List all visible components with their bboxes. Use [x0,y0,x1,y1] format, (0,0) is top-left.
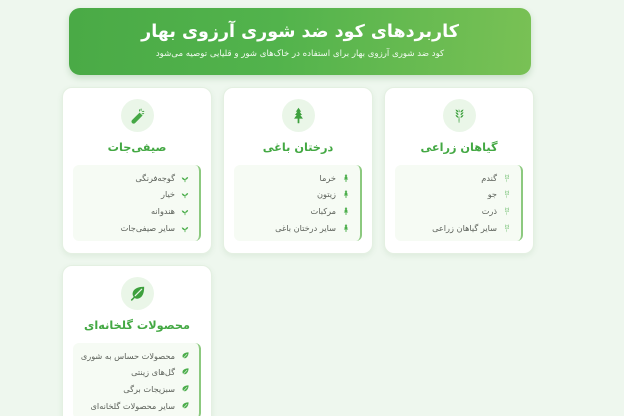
list-item[interactable]: هندوانه [81,206,190,216]
list-item[interactable]: زیتون [242,189,351,199]
card-list: گندم جو [395,165,523,242]
leaf-bullet-icon [180,401,190,411]
list-item[interactable]: گوجه‌فرنگی [81,173,190,183]
tree-bullet-icon [341,189,351,199]
seedling-bullet-icon [180,189,190,199]
tree-bullet-icon [341,173,351,183]
card-vegetables[interactable]: صیفی‌جات گوجه‌فرنگی [62,87,212,254]
list-item[interactable]: سایر محصولات گلخانه‌ای [81,401,190,411]
wheat-icon [450,106,469,125]
wheat-bullet-icon [502,173,512,183]
list-item[interactable]: سایر درختان باغی [242,223,351,233]
list-item-label: سبزیجات برگی [123,384,175,394]
list-item-label: خرما [320,173,336,183]
card-title: درختان باغی [263,141,334,155]
list-item[interactable]: گندم [403,173,512,183]
wheat-bullet-icon [502,206,512,216]
list-item[interactable]: مرکبات [242,206,351,216]
card-greenhouse-products[interactable]: محصولات گلخانه‌ای محصولات حساس به شوری [62,265,212,416]
wheat-bullet-icon [502,189,512,199]
card-list: گوجه‌فرنگی خیار [73,165,201,242]
list-item[interactable]: محصولات حساس به شوری [81,351,190,361]
header-banner: کاربردهای کود ضد شوری آرزوی بهار کود ضد … [69,8,531,75]
page-root: کاربردهای کود ضد شوری آرزوی بهار کود ضد … [0,0,624,416]
list-item-label: سایر درختان باغی [275,223,336,233]
tree-icon [289,106,308,125]
card-list: محصولات حساس به شوری گل‌های زینتی [73,343,201,416]
list-item-label: ذرت [482,206,497,216]
list-item-label: مرکبات [311,206,336,216]
list-item[interactable]: سایر صیفی‌جات [81,223,190,233]
list-item-label: گوجه‌فرنگی [135,173,175,183]
banner-title: کاربردهای کود ضد شوری آرزوی بهار [141,22,459,43]
card-icon-wrapper [121,99,154,132]
cards-grid: گیاهان زراعی [62,87,534,416]
leaf-bullet-icon [180,351,190,361]
seedling-bullet-icon [180,173,190,183]
tree-bullet-icon [341,223,351,233]
list-item-label: خیار [161,189,175,199]
list-item[interactable]: خرما [242,173,351,183]
list-item[interactable]: سبزیجات برگی [81,384,190,394]
list-item-label: هندوانه [151,206,175,216]
card-title: صیفی‌جات [108,141,167,155]
card-title: گیاهان زراعی [420,141,497,155]
list-item-label: سایر صیفی‌جات [121,223,175,233]
card-icon-wrapper [282,99,315,132]
carrot-icon [128,106,147,125]
list-item[interactable]: گل‌های زینتی [81,367,190,377]
leaf-bullet-icon [180,384,190,394]
seedling-bullet-icon [180,206,190,216]
tree-bullet-icon [341,206,351,216]
card-list: خرما زیتون [234,165,362,242]
leaf-bullet-icon [180,367,190,377]
list-item[interactable]: جو [403,189,512,199]
list-item-label: سایر گیاهان زراعی [432,223,497,233]
list-item[interactable]: ذرت [403,206,512,216]
leaf-icon [128,284,147,303]
list-item-label: سایر محصولات گلخانه‌ای [91,401,175,411]
list-item-label: گل‌های زینتی [131,367,175,377]
list-item-label: محصولات حساس به شوری [81,351,175,361]
wheat-bullet-icon [502,223,512,233]
card-icon-wrapper [443,99,476,132]
card-field-crops[interactable]: گیاهان زراعی [384,87,534,254]
list-item[interactable]: سایر گیاهان زراعی [403,223,512,233]
list-item-label: جو [488,189,497,199]
card-orchard-trees[interactable]: درختان باغی خرما [223,87,373,254]
card-title: محصولات گلخانه‌ای [84,319,190,333]
list-item-label: گندم [481,173,497,183]
seedling-bullet-icon [180,223,190,233]
list-item-label: زیتون [317,189,336,199]
card-icon-wrapper [121,277,154,310]
list-item[interactable]: خیار [81,189,190,199]
banner-subtitle: کود ضد شوری آرزوی بهار برای استفاده در خ… [156,49,444,60]
